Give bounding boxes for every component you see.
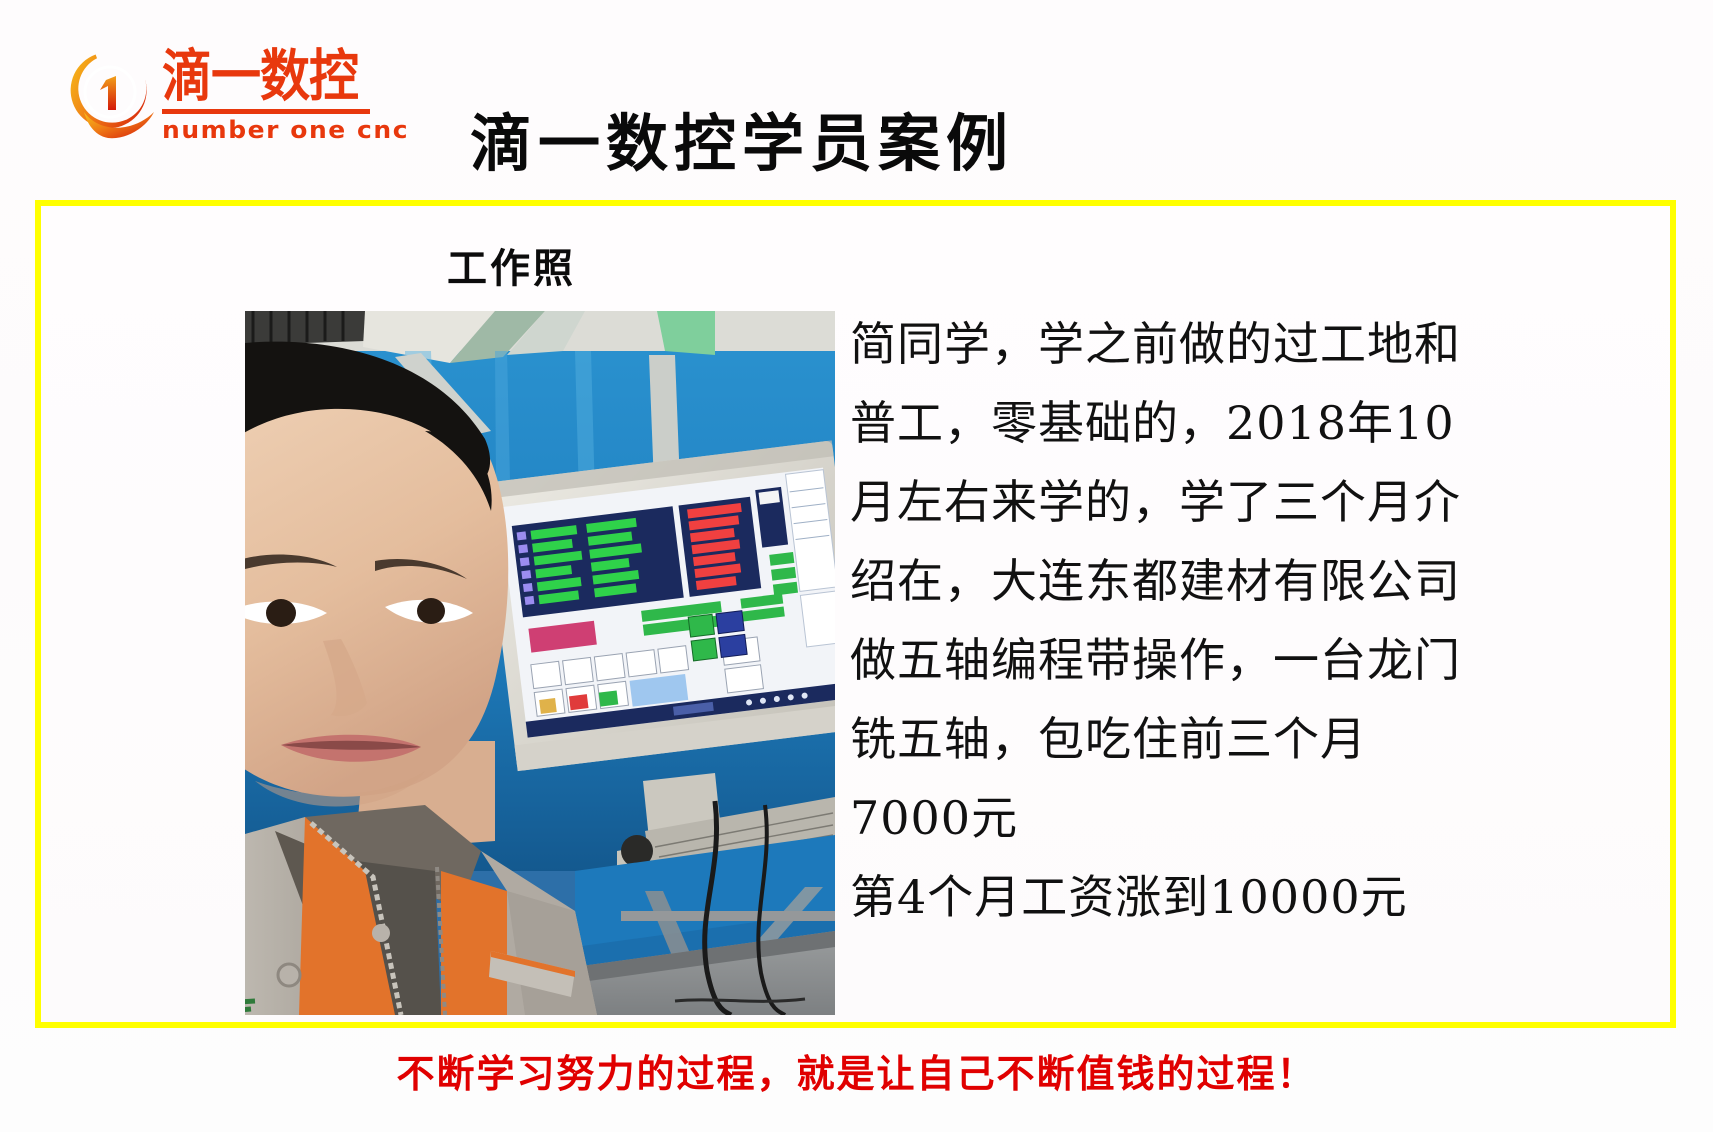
number-one-circle-swoosh-icon xyxy=(62,46,158,142)
student-work-photo xyxy=(245,311,835,1015)
page-title: 滴一数控学员案例 xyxy=(470,108,1014,180)
logo-chinese-name: 滴一数控 xyxy=(162,46,374,106)
photo-caption: 工作照 xyxy=(447,245,576,293)
story-line: 简同学，学之前做的过工地和 xyxy=(850,305,1540,384)
student-story-text: 简同学，学之前做的过工地和 普工，零基础的，2018年10 月左右来学的，学了三… xyxy=(850,305,1540,937)
footer-slogan: 不断学习努力的过程，就是让自己不断值钱的过程！ xyxy=(0,1050,1713,1098)
story-line: 第4个月工资涨到10000元 xyxy=(850,858,1540,937)
story-line: 7000元 xyxy=(850,779,1540,858)
logo-divider xyxy=(162,109,370,114)
story-line: 铣五轴，包吃住前三个月 xyxy=(850,700,1540,779)
story-line: 做五轴编程带操作，一台龙门 xyxy=(850,621,1540,700)
story-line: 绍在，大连东都建材有限公司 xyxy=(850,542,1540,621)
story-line: 普工，零基础的，2018年10 xyxy=(850,384,1540,463)
logo-english-name: number one cnc xyxy=(162,117,382,143)
slide-canvas: 滴一数控 number one cnc 滴一数控学员案例 工作照 xyxy=(0,0,1713,1132)
brand-logo: 滴一数控 number one cnc xyxy=(62,40,372,148)
story-line: 月左右来学的，学了三个月介 xyxy=(850,463,1540,542)
